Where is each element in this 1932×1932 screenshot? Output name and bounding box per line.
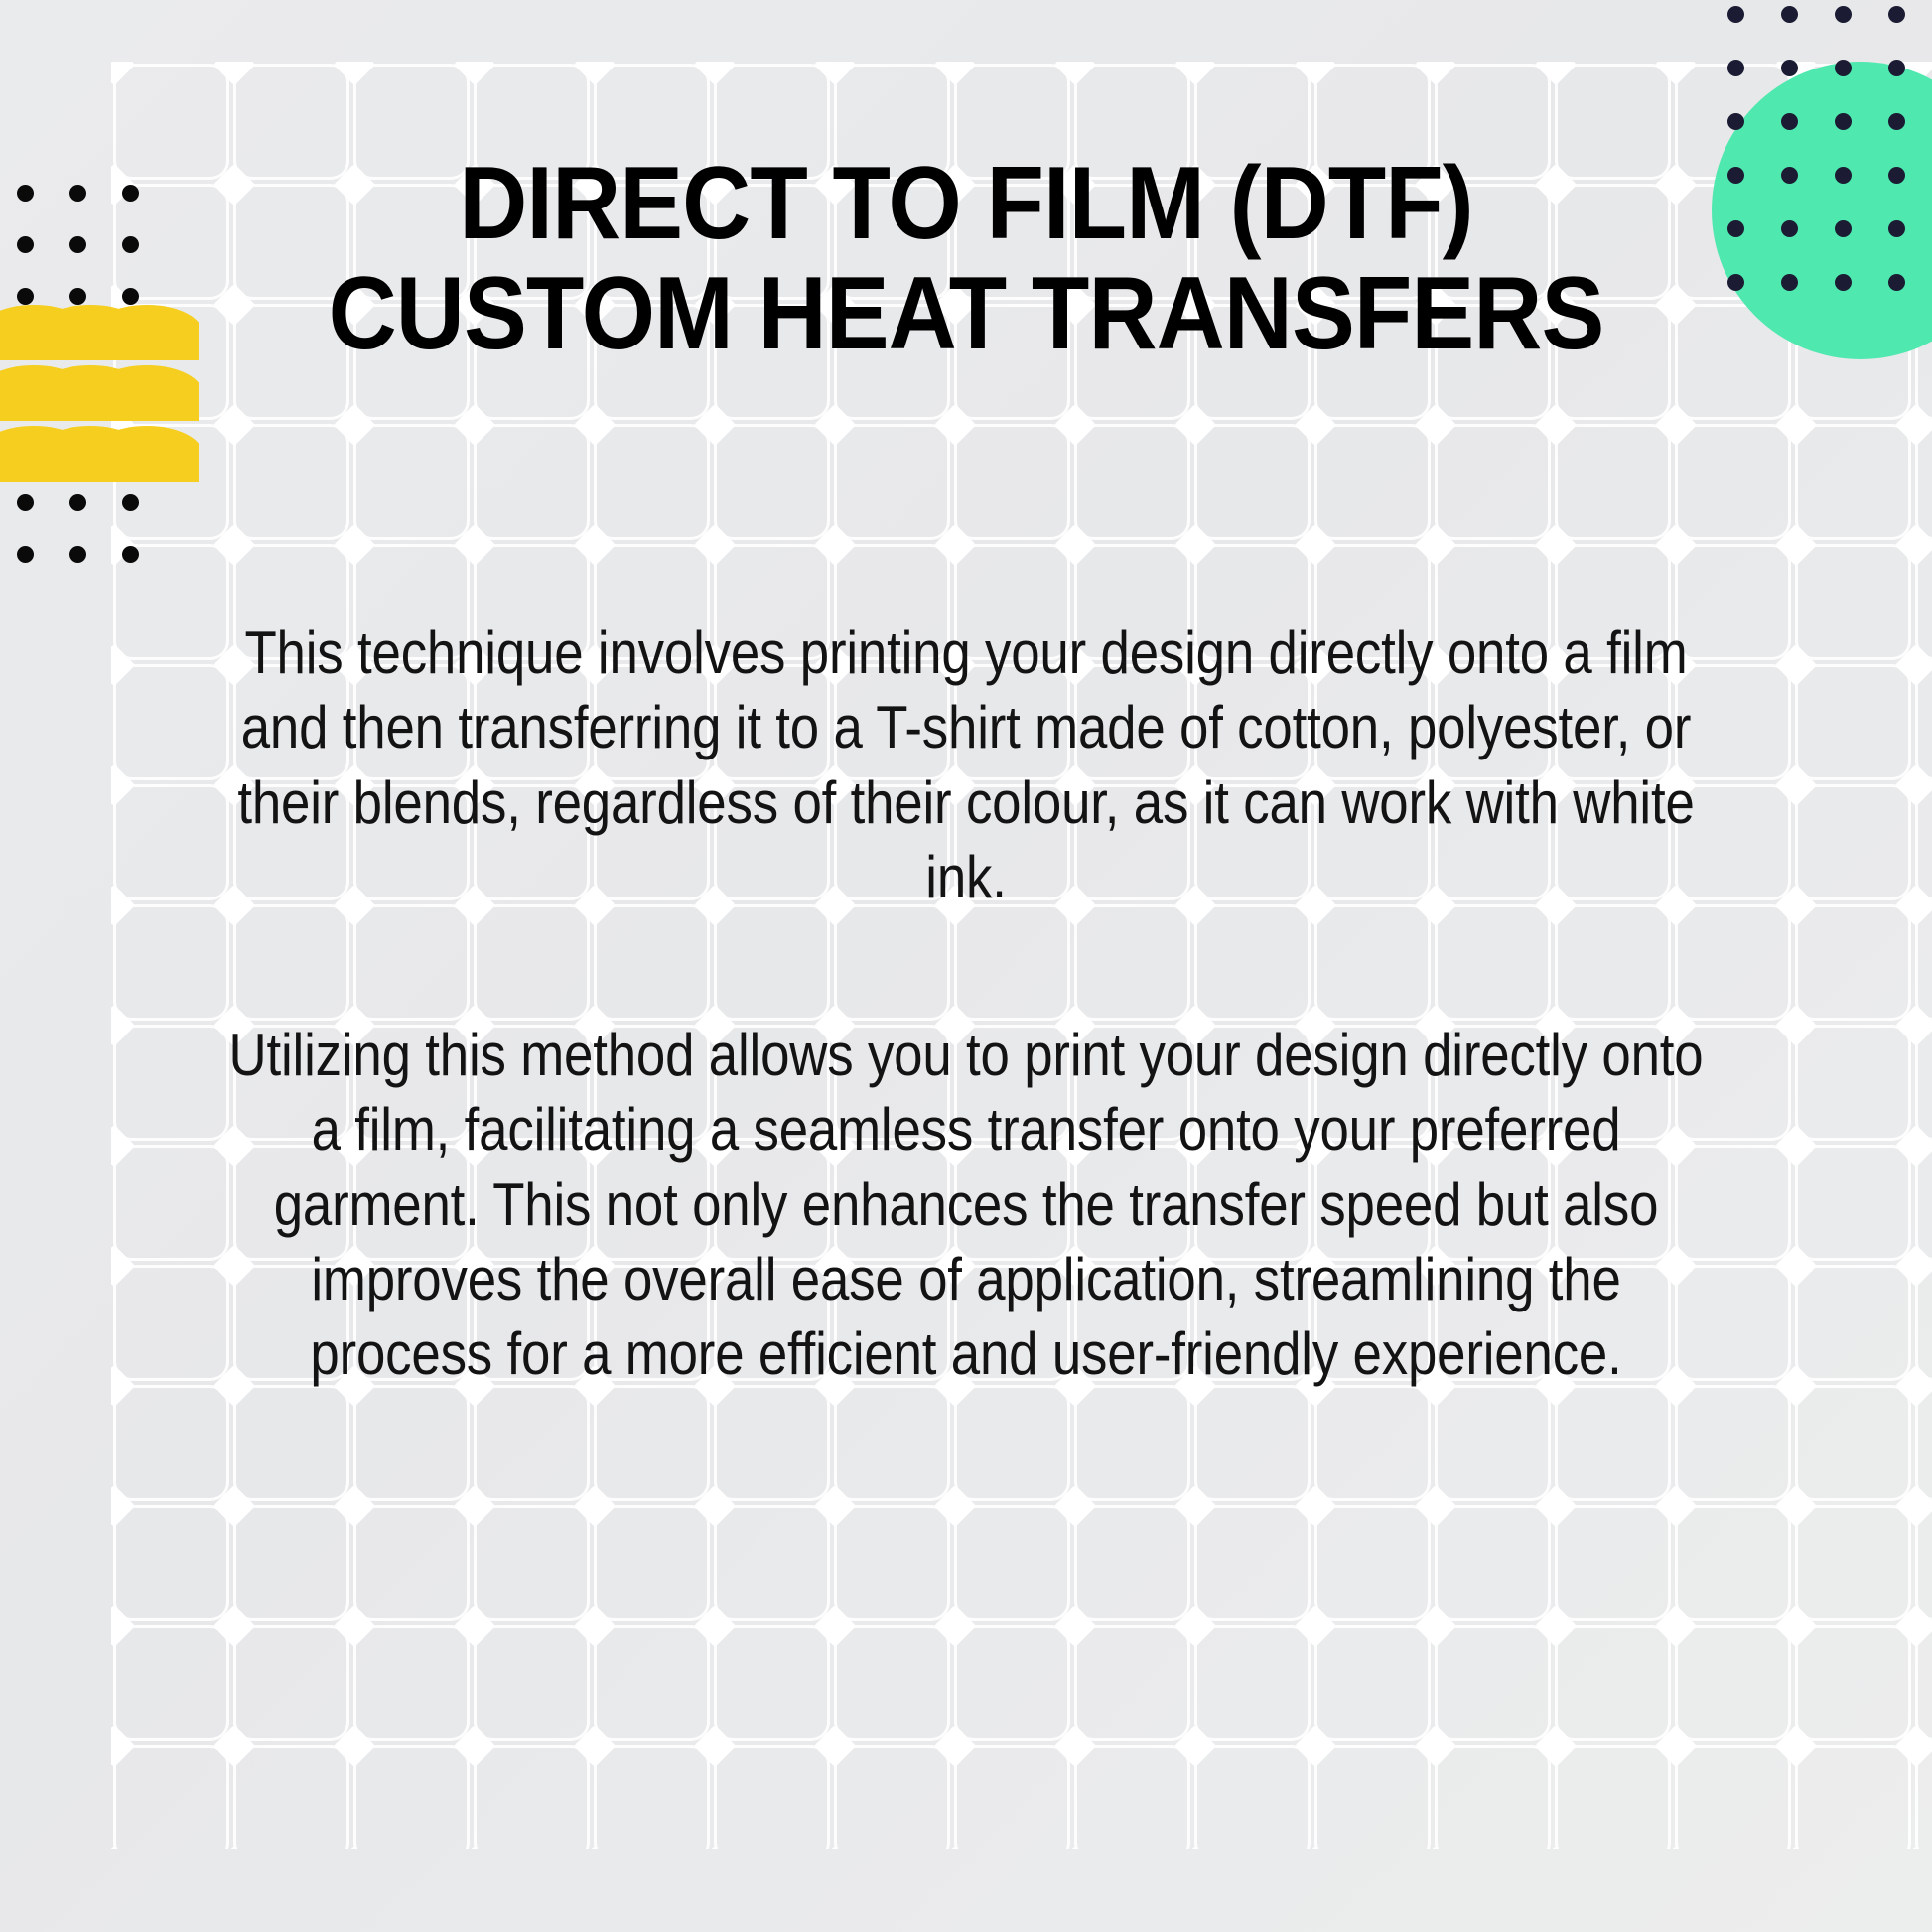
grid-junction-diamond [333, 1845, 374, 1849]
grid-junction-diamond [1534, 62, 1576, 85]
decorative-dot [1727, 60, 1744, 76]
grid-junction-diamond [1053, 1845, 1095, 1849]
grid-junction-diamond [212, 523, 254, 565]
grid-junction-diamond [212, 1845, 254, 1849]
grid-junction-diamond [1654, 523, 1696, 565]
grid-cell [1918, 1748, 1932, 1849]
grid-junction-diamond [1534, 523, 1576, 565]
grid-cell [1438, 1508, 1548, 1618]
grid-junction-diamond [573, 1604, 615, 1646]
grid-cell [1558, 1628, 1668, 1738]
grid-junction-diamond [1894, 1725, 1932, 1766]
grid-cell [1077, 427, 1187, 537]
grid-cell [477, 1388, 587, 1498]
grid-junction-diamond [573, 1845, 615, 1849]
grid-junction-diamond [111, 1725, 135, 1766]
grid-junction-diamond [453, 1845, 494, 1849]
grid-cell [236, 1628, 346, 1738]
grid-cell [1317, 1508, 1428, 1618]
grid-cell [1317, 1388, 1428, 1498]
grid-junction-diamond [453, 1484, 494, 1526]
grid-junction-diamond [1534, 1725, 1576, 1766]
grid-junction-diamond [573, 62, 615, 85]
grid-cell [597, 1748, 707, 1849]
grid-cell [1558, 427, 1668, 537]
grid-junction-diamond [1294, 62, 1335, 85]
grid-cell [477, 1628, 587, 1738]
decorative-dot [1888, 274, 1905, 291]
grid-cell [1918, 1268, 1932, 1378]
grid-cell [1918, 1508, 1932, 1618]
grid-junction-diamond [333, 523, 374, 565]
grid-junction-diamond [212, 1725, 254, 1766]
grid-cell [597, 1508, 707, 1618]
grid-junction-diamond [1894, 763, 1932, 805]
grid-junction-diamond [1294, 523, 1335, 565]
grid-junction-diamond [453, 1604, 494, 1646]
grid-junction-diamond [693, 1845, 735, 1849]
grid-junction-diamond [1654, 1604, 1696, 1646]
grid-cell [837, 427, 947, 537]
grid-junction-diamond [111, 1845, 135, 1849]
slide-canvas: DIRECT TO FILM (DTF) CUSTOM HEAT TRANSFE… [0, 0, 1932, 1932]
grid-cell [116, 1748, 226, 1849]
grid-cell [477, 1748, 587, 1849]
grid-junction-diamond [1774, 1604, 1816, 1646]
grid-cell [1438, 1388, 1548, 1498]
grid-junction-diamond [1894, 884, 1932, 925]
grid-junction-diamond [1534, 1604, 1576, 1646]
grid-cell [1678, 1508, 1788, 1618]
grid-cell [1798, 1748, 1908, 1849]
grid-junction-diamond [1173, 1604, 1215, 1646]
grid-cell [1798, 1628, 1908, 1738]
grid-junction-diamond [1654, 403, 1696, 445]
grid-cell [236, 427, 346, 537]
grid-junction-diamond [933, 1845, 975, 1849]
grid-cell [717, 1748, 827, 1849]
grid-cell [1077, 1748, 1187, 1849]
grid-cell [116, 1508, 226, 1618]
grid-junction-diamond [1053, 1484, 1095, 1526]
grid-junction-diamond [1894, 523, 1932, 565]
grid-junction-diamond [1774, 1725, 1816, 1766]
decorative-dot [1888, 6, 1905, 23]
grid-cell [1197, 1388, 1308, 1498]
grid-junction-diamond [333, 403, 374, 445]
grid-junction-diamond [1414, 403, 1455, 445]
grid-cell [356, 1628, 467, 1738]
grid-cell [116, 1388, 226, 1498]
decorative-dot [1888, 60, 1905, 76]
grid-junction-diamond [1774, 1845, 1816, 1849]
grid-junction-diamond [573, 1484, 615, 1526]
grid-cell [1077, 1628, 1187, 1738]
grid-junction-diamond [1294, 1725, 1335, 1766]
grid-cell [717, 1508, 827, 1618]
grid-cell [1918, 1388, 1932, 1498]
grid-junction-diamond [1053, 523, 1095, 565]
grid-junction-diamond [1894, 1244, 1932, 1286]
decorative-dot [1727, 6, 1744, 23]
decorative-dot [1727, 113, 1744, 130]
grid-junction-diamond [453, 523, 494, 565]
grid-junction-diamond [933, 1484, 975, 1526]
grid-cell [1077, 1508, 1187, 1618]
grid-cell [1918, 427, 1932, 537]
grid-junction-diamond [453, 1725, 494, 1766]
grid-junction-diamond [1774, 523, 1816, 565]
decorative-dot [1835, 60, 1852, 76]
grid-junction-diamond [111, 1604, 135, 1646]
grid-cell [1918, 1628, 1932, 1738]
paragraph-1: This technique involves printing your de… [213, 616, 1718, 914]
grid-junction-diamond [1173, 403, 1215, 445]
grid-cell [957, 1508, 1067, 1618]
grid-junction-diamond [813, 62, 855, 85]
grid-junction-diamond [1173, 1725, 1215, 1766]
grid-junction-diamond [1294, 1484, 1335, 1526]
grid-cell [1197, 427, 1308, 537]
grid-junction-diamond [1534, 403, 1576, 445]
grid-junction-diamond [1894, 403, 1932, 445]
grid-cell [1918, 907, 1932, 1018]
grid-cell [1798, 427, 1908, 537]
grid-junction-diamond [1894, 1364, 1932, 1406]
grid-cell [356, 427, 467, 537]
grid-junction-diamond [1774, 1484, 1816, 1526]
grid-junction-diamond [1414, 62, 1455, 85]
grid-junction-diamond [1654, 1484, 1696, 1526]
decorative-dot [1888, 113, 1905, 130]
grid-cell [1197, 1508, 1308, 1618]
decorative-dot [1781, 60, 1798, 76]
grid-cell [837, 1508, 947, 1618]
grid-cell [837, 1388, 947, 1498]
grid-cell [1438, 1628, 1548, 1738]
decorative-dot [69, 546, 86, 563]
grid-junction-diamond [111, 1484, 135, 1526]
yellow-semicircle [91, 426, 199, 482]
grid-junction-diamond [1894, 1124, 1932, 1166]
grid-junction-diamond [1654, 1725, 1696, 1766]
grid-junction-diamond [333, 1484, 374, 1526]
decorative-dot [1781, 113, 1798, 130]
grid-cell [1438, 1748, 1548, 1849]
grid-junction-diamond [813, 1604, 855, 1646]
grid-junction-diamond [693, 62, 735, 85]
grid-junction-diamond [1894, 1604, 1932, 1646]
grid-cell [1918, 1148, 1932, 1258]
grid-junction-diamond [333, 62, 374, 85]
grid-cell [837, 1748, 947, 1849]
grid-cell [1678, 1748, 1788, 1849]
grid-cell [1798, 1388, 1908, 1498]
grid-junction-diamond [1414, 1484, 1455, 1526]
grid-junction-diamond [1414, 1604, 1455, 1646]
title-line-2: CUSTOM HEAT TRANSFERS [187, 259, 1745, 369]
grid-junction-diamond [453, 62, 494, 85]
grid-cell [1918, 1028, 1932, 1138]
grid-junction-diamond [693, 1604, 735, 1646]
grid-junction-diamond [1654, 62, 1696, 85]
decorative-dot [1781, 6, 1798, 23]
grid-junction-diamond [1053, 62, 1095, 85]
grid-junction-diamond [1534, 1845, 1576, 1849]
grid-cell [236, 1508, 346, 1618]
grid-junction-diamond [212, 62, 254, 85]
grid-cell [957, 1388, 1067, 1498]
grid-cell [597, 1628, 707, 1738]
grid-junction-diamond [1414, 1725, 1455, 1766]
decorative-dot [1888, 167, 1905, 184]
grid-junction-diamond [693, 1725, 735, 1766]
grid-cell [1077, 1388, 1187, 1498]
page-title: DIRECT TO FILM (DTF) CUSTOM HEAT TRANSFE… [77, 149, 1855, 370]
grid-junction-diamond [1894, 1484, 1932, 1526]
body-copy: This technique involves printing your de… [111, 616, 1821, 1392]
grid-cell [1558, 1508, 1668, 1618]
grid-junction-diamond [933, 62, 975, 85]
title-line-1: DIRECT TO FILM (DTF) [187, 149, 1745, 259]
grid-junction-diamond [1894, 1845, 1932, 1849]
grid-junction-diamond [1173, 1845, 1215, 1849]
grid-cell [1317, 1628, 1428, 1738]
grid-junction-diamond [933, 1604, 975, 1646]
grid-cell [957, 1748, 1067, 1849]
grid-junction-diamond [813, 403, 855, 445]
grid-junction-diamond [933, 403, 975, 445]
decorative-dot [122, 546, 139, 563]
grid-junction-diamond [1654, 1845, 1696, 1849]
grid-junction-diamond [1173, 62, 1215, 85]
grid-junction-diamond [933, 523, 975, 565]
grid-cell [717, 1388, 827, 1498]
grid-junction-diamond [1894, 1004, 1932, 1045]
grid-junction-diamond [813, 523, 855, 565]
grid-junction-diamond [1414, 1845, 1455, 1849]
grid-junction-diamond [212, 1604, 254, 1646]
grid-cell [1197, 1748, 1308, 1849]
grid-cell [477, 1508, 587, 1618]
grid-junction-diamond [813, 1484, 855, 1526]
grid-junction-diamond [693, 523, 735, 565]
grid-junction-diamond [573, 523, 615, 565]
grid-cell [1678, 1628, 1788, 1738]
grid-junction-diamond [813, 1725, 855, 1766]
decorative-dot [17, 546, 34, 563]
grid-cell [957, 427, 1067, 537]
grid-cell [1558, 1748, 1668, 1849]
grid-cell [477, 427, 587, 537]
grid-cell [1438, 427, 1548, 537]
grid-junction-diamond [1414, 523, 1455, 565]
grid-cell [1918, 667, 1932, 777]
grid-junction-diamond [1053, 1725, 1095, 1766]
grid-junction-diamond [212, 1484, 254, 1526]
grid-cell [597, 1388, 707, 1498]
decorative-dot [1888, 220, 1905, 237]
paragraph-2: Utilizing this method allows you to prin… [213, 1018, 1718, 1391]
grid-junction-diamond [1053, 1604, 1095, 1646]
grid-cell [356, 1748, 467, 1849]
grid-cell [236, 1388, 346, 1498]
grid-cell [356, 1388, 467, 1498]
grid-junction-diamond [333, 1725, 374, 1766]
grid-junction-diamond [1173, 1484, 1215, 1526]
grid-cell [837, 1628, 947, 1738]
grid-junction-diamond [453, 403, 494, 445]
grid-junction-diamond [933, 1725, 975, 1766]
grid-junction-diamond [1053, 403, 1095, 445]
grid-junction-diamond [333, 1604, 374, 1646]
grid-cell [1678, 1388, 1788, 1498]
grid-cell [1317, 1748, 1428, 1849]
grid-cell [236, 1748, 346, 1849]
grid-cell [1918, 787, 1932, 897]
grid-cell [957, 1628, 1067, 1738]
decorative-dot [1835, 6, 1852, 23]
grid-cell [1317, 427, 1428, 537]
grid-cell [597, 427, 707, 537]
grid-junction-diamond [1534, 1484, 1576, 1526]
grid-cell [1918, 547, 1932, 657]
grid-junction-diamond [1894, 643, 1932, 685]
grid-junction-diamond [813, 1845, 855, 1849]
grid-junction-diamond [1294, 1845, 1335, 1849]
yellow-semicircle [91, 365, 199, 421]
grid-junction-diamond [693, 403, 735, 445]
grid-cell [356, 1508, 467, 1618]
grid-junction-diamond [1173, 523, 1215, 565]
grid-cell [717, 1628, 827, 1738]
decorative-dot [1835, 113, 1852, 130]
grid-junction-diamond [1294, 403, 1335, 445]
grid-cell [717, 427, 827, 537]
grid-junction-diamond [573, 1725, 615, 1766]
grid-cell [1558, 1388, 1668, 1498]
grid-cell [116, 1628, 226, 1738]
grid-junction-diamond [1774, 403, 1816, 445]
grid-junction-diamond [573, 403, 615, 445]
grid-cell [1197, 1628, 1308, 1738]
grid-junction-diamond [212, 403, 254, 445]
grid-cell [1678, 427, 1788, 537]
grid-junction-diamond [1294, 1604, 1335, 1646]
grid-junction-diamond [693, 1484, 735, 1526]
grid-cell [1798, 1508, 1908, 1618]
